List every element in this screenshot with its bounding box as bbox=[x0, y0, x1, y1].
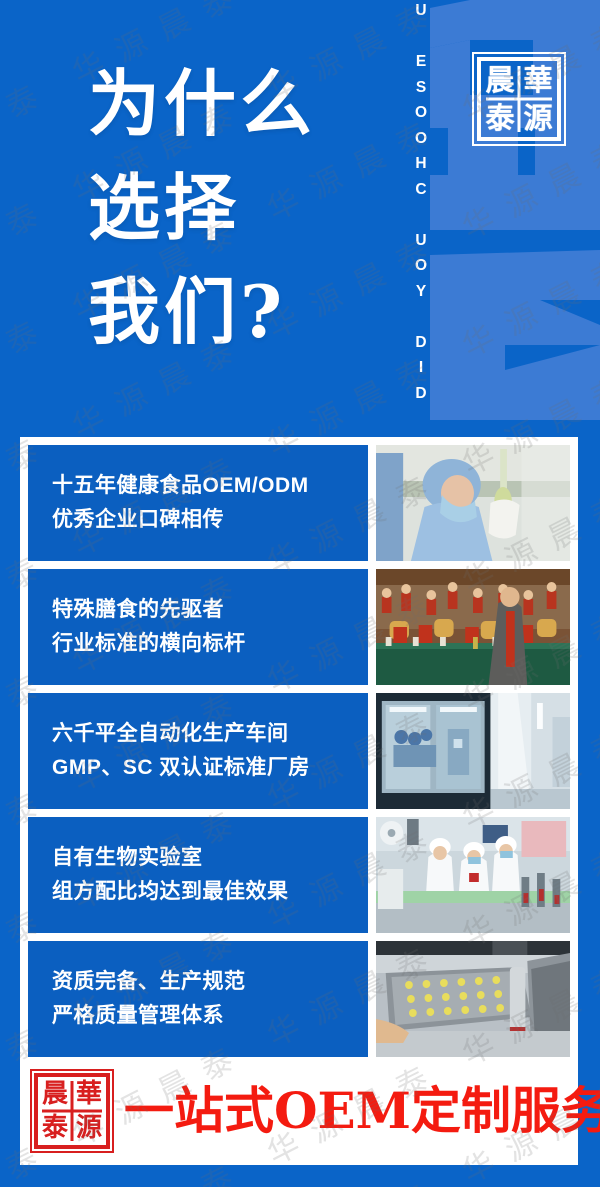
feature-text-card: 六千平全自动化生产车间 GMP、SC 双认证标准厂房 bbox=[28, 693, 368, 809]
tagline-letter: E bbox=[416, 49, 426, 75]
poster-header: 为什么 选择 我们? D I D . Y O U . C H O O S E .… bbox=[0, 0, 600, 437]
seal-char: 晨 bbox=[42, 1081, 68, 1107]
feature-line: 特殊膳食的先驱者 bbox=[52, 593, 368, 627]
headline-line-3: 我们? bbox=[88, 260, 316, 364]
feature-line: 优秀企业口碑相传 bbox=[52, 503, 368, 537]
tagline-letter: O bbox=[415, 126, 427, 152]
feature-row: 资质完备、生产规范 严格质量管理体系 bbox=[28, 941, 570, 1057]
tagline-letter: Y bbox=[416, 279, 426, 305]
tagline-letter: H bbox=[415, 151, 426, 177]
seal-char: 源 bbox=[76, 1115, 102, 1141]
clean-room-production-corridor-photo bbox=[376, 693, 570, 809]
cta-label: 一站式OEM定制服务 bbox=[124, 1081, 600, 1141]
feature-row: 自有生物实验室 组方配比均达到最佳效果 bbox=[28, 817, 570, 933]
seal-char: 泰 bbox=[485, 104, 514, 133]
feature-text-card: 特殊膳食的先驱者 行业标准的横向标杆 bbox=[28, 569, 368, 685]
seal-divider-horizontal bbox=[486, 98, 553, 101]
tagline-letter: U bbox=[415, 228, 426, 254]
feature-row: 特殊膳食的先驱者 行业标准的横向标杆 bbox=[28, 569, 570, 685]
headline-line-1: 为什么 bbox=[88, 52, 316, 156]
feature-line: 严格质量管理体系 bbox=[52, 999, 368, 1033]
seal-char: 泰 bbox=[42, 1115, 68, 1141]
headline-line-2: 选择 bbox=[88, 156, 316, 260]
feature-text-card: 资质完备、生产规范 严格质量管理体系 bbox=[28, 941, 368, 1057]
tagline-letter: S bbox=[416, 75, 426, 101]
feature-line: 十五年健康食品OEM/ODM bbox=[52, 469, 368, 503]
feature-line: 六千平全自动化生产车间 bbox=[52, 717, 368, 751]
lab-technician-inspecting-vial-photo bbox=[376, 445, 570, 561]
vertical-tagline: D I D . Y O U . C H O O S E . U S bbox=[408, 14, 434, 406]
tagline-letter: O bbox=[415, 100, 427, 126]
feature-text-card: 自有生物实验室 组方配比均达到最佳效果 bbox=[28, 817, 368, 933]
feature-row: 六千平全自动化生产车间 GMP、SC 双认证标准厂房 bbox=[28, 693, 570, 809]
conference-audience-hall-photo bbox=[376, 569, 570, 685]
seal-char: 華 bbox=[523, 66, 552, 95]
tagline-letter: I bbox=[419, 355, 423, 381]
feature-text-card: 十五年健康食品OEM/ODM 优秀企业口碑相传 bbox=[28, 445, 368, 561]
tablet-blister-packing-machine-photo bbox=[376, 941, 570, 1057]
seal-divider-horizontal bbox=[42, 1110, 102, 1113]
poster-root: 为什么 选择 我们? D I D . Y O U . C H O O S E .… bbox=[0, 0, 600, 1187]
seal-char: 晨 bbox=[485, 66, 514, 95]
page-title: 为什么 选择 我们? bbox=[88, 52, 316, 364]
tagline-letter: U bbox=[415, 0, 426, 24]
feature-line: 行业标准的横向标杆 bbox=[52, 627, 368, 661]
cta-banner[interactable]: 晨 華 泰 源 一站式OEM定制服务 bbox=[28, 1065, 570, 1157]
seal-char: 華 bbox=[76, 1081, 102, 1107]
seal-char: 源 bbox=[523, 104, 552, 133]
tagline-letter: C bbox=[415, 177, 426, 203]
feature-line: 组方配比均达到最佳效果 bbox=[52, 875, 368, 909]
packaging-line-workers-photo bbox=[376, 817, 570, 933]
features-panel: 十五年健康食品OEM/ODM 优秀企业口碑相传 bbox=[20, 437, 578, 1165]
tagline-letter: D bbox=[415, 330, 426, 356]
feature-line: GMP、SC 双认证标准厂房 bbox=[52, 751, 368, 785]
feature-line: 自有生物实验室 bbox=[52, 841, 368, 875]
feature-line: 资质完备、生产规范 bbox=[52, 965, 368, 999]
feature-row: 十五年健康食品OEM/ODM 优秀企业口碑相传 bbox=[28, 445, 570, 561]
brand-seal-icon: 晨 華 泰 源 bbox=[477, 57, 561, 141]
tagline-letter: D bbox=[415, 381, 426, 407]
brand-seal-icon-red: 晨 華 泰 源 bbox=[34, 1073, 110, 1149]
tagline-letter: O bbox=[415, 253, 427, 279]
